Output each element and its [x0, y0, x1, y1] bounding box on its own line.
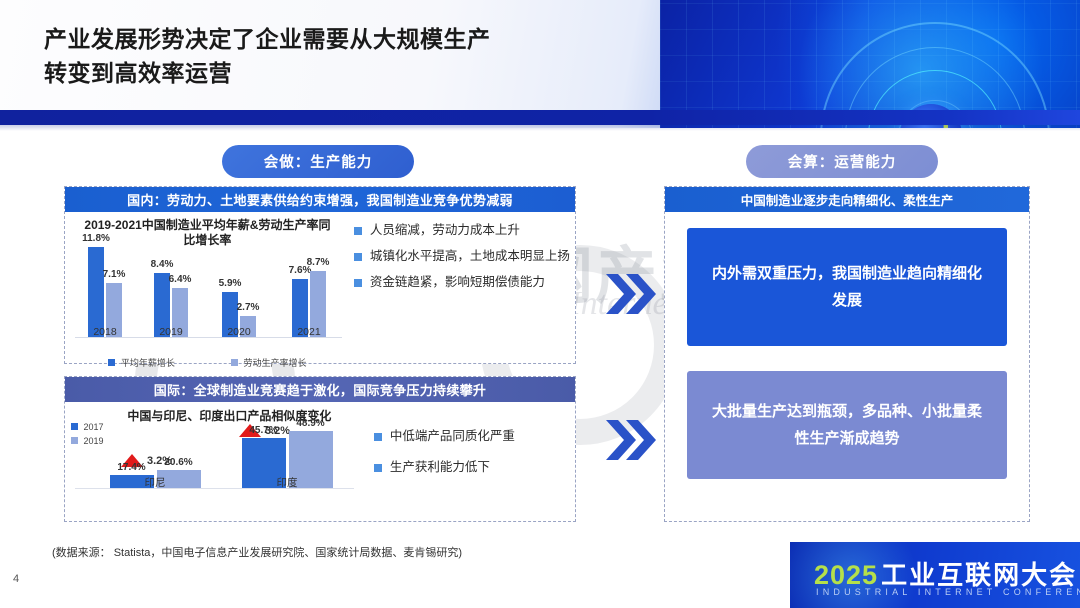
- chart2-xtick-india: 印度: [227, 475, 347, 490]
- bullet-label: 人员缩减，劳动力成本上升: [370, 222, 520, 239]
- bullet-label: 中低端产品同质化严重: [390, 428, 515, 445]
- chart1-label-2019-productivity: 6.4%: [169, 274, 192, 285]
- chart1-label-2018-productivity: 7.1%: [103, 269, 126, 280]
- chart2-xtick-indonesia: 印尼: [95, 475, 215, 490]
- bullet-label: 资金链趋紧，影响短期偿债能力: [370, 274, 545, 291]
- conference-logo: 2025 工业互联网大会 INDUSTRIAL INTERNET CONFERE…: [790, 542, 1080, 608]
- bullet-square-icon: [354, 253, 362, 261]
- panel-trend-header: 中国制造业逐步走向精细化、柔性生产: [665, 187, 1029, 212]
- chart1-xtick-2019: 2019: [143, 326, 199, 338]
- bullet-item: 中低端产品同质化严重: [374, 428, 575, 445]
- logo-name-en: INDUSTRIAL INTERNET CONFERENCE: [816, 587, 1080, 597]
- chart-salary-productivity: 2019-2021中国制造业平均年薪&劳动生产率同比增长率 11.8% 7.1%…: [65, 212, 350, 363]
- slide-header: T 产业发展形势决定了企业需要从大规模生产 转变到高效率运营: [0, 0, 1080, 128]
- bullet-square-icon: [354, 279, 362, 287]
- chart1-label-2021-productivity: 8.7%: [307, 257, 330, 268]
- chart1-label-2020-productivity: 2.7%: [237, 302, 260, 313]
- pill-left-label: 会做：生产能力: [264, 151, 373, 172]
- chart1-group-2018: 11.8% 7.1% 2018: [77, 247, 133, 337]
- bullet-label: 生产获利能力低下: [390, 459, 490, 476]
- panel-domestic: 国内：劳动力、土地要素供给约束增强，我国制造业竞争优势减弱 2019-2021中…: [64, 186, 576, 364]
- panel-international: 国际：全球制造业竞赛趋于激化，国际竞争压力持续攀升 中国与印尼、印度出口产品相似…: [64, 376, 576, 522]
- panel-international-bullets: 中低端产品同质化严重 生产获利能力低下: [364, 402, 575, 521]
- bullet-item: 资金链趋紧，影响短期偿债能力: [354, 274, 575, 291]
- bullet-item: 人员缩减，劳动力成本上升: [354, 222, 575, 239]
- panel-international-body: 中国与印尼、印度出口产品相似度变化 2017 2019 3.2%: [65, 402, 575, 521]
- panel-domestic-header: 国内：劳动力、土地要素供给约束增强，我国制造业竞争优势减弱: [65, 187, 575, 212]
- chart2-group-indonesia: 17.4% 20.6% 印尼: [95, 426, 215, 488]
- chart1-bar-2018-salary: 11.8%: [88, 247, 104, 337]
- chart1-label-2018-salary: 11.8%: [82, 233, 110, 244]
- chart2-plot: 3.2% 3.2% 17.4% 20.6% 印尼: [71, 426, 358, 504]
- bullet-square-icon: [374, 433, 382, 441]
- pill-production-capability[interactable]: 会做：生产能力: [222, 145, 414, 178]
- chart1-label-2019-salary: 8.4%: [151, 259, 174, 270]
- chevron-right-double-icon-bottom: [604, 418, 656, 462]
- page-number: 4: [13, 573, 19, 585]
- bullet-square-icon: [354, 227, 362, 235]
- chart1-legend-swatch-salary: [108, 359, 115, 366]
- trend-box-refinement: 内外需双重压力，我国制造业趋向精细化发展: [687, 228, 1007, 346]
- chart1-group-2019: 8.4% 6.4% 2019: [143, 247, 199, 337]
- page-title-line1: 产业发展形势决定了企业需要从大规模生产: [44, 22, 664, 56]
- pill-right-label: 会算：运营能力: [788, 151, 897, 172]
- chart1-legend-label-salary: 平均年薪增长: [121, 358, 175, 368]
- source-note: (数据来源： Statista，中国电子信息产业发展研究院、国家统计局数据、麦肯…: [52, 544, 462, 560]
- trend-box-flexible: 大批量生产达到瓶颈，多品种、小批量柔性生产渐成趋势: [687, 371, 1007, 479]
- bullet-item: 城镇化水平提高，土地成本明显上扬: [354, 248, 575, 265]
- panel-domestic-body: 2019-2021中国制造业平均年薪&劳动生产率同比增长率 11.8% 7.1%…: [65, 212, 575, 363]
- chart2-label-indonesia-2019: 20.6%: [164, 457, 192, 468]
- chevron-right-double-icon-top: [604, 272, 656, 316]
- chart1-xtick-2020: 2020: [211, 326, 267, 338]
- chart1-group-2021: 7.6% 8.7% 2021: [281, 247, 337, 337]
- bullet-label: 城镇化水平提高，土地成本明显上扬: [370, 248, 570, 265]
- header-bar-shadow: [0, 125, 1080, 131]
- chart2-label-india-2017: 45.7%: [249, 425, 277, 436]
- page-title-line2: 转变到高效率运营: [44, 56, 664, 90]
- chart1-legend: 平均年薪增长 劳动生产率增长: [65, 356, 350, 369]
- page-title: 产业发展形势决定了企业需要从大规模生产 转变到高效率运营: [44, 22, 664, 90]
- chart1-group-2020: 5.9% 2.7% 2020: [211, 247, 267, 337]
- panel-international-header: 国际：全球制造业竞赛趋于激化，国际竞争压力持续攀升: [65, 377, 575, 402]
- chart2-label-indonesia-2017: 17.4%: [117, 462, 145, 473]
- header-accent-bar: [0, 110, 1080, 125]
- bullet-item: 生产获利能力低下: [374, 459, 575, 476]
- chart1-legend-swatch-productivity: [231, 359, 238, 366]
- bullet-square-icon: [374, 464, 382, 472]
- pill-operation-capability[interactable]: 会算：运营能力: [746, 145, 938, 178]
- chart1-xtick-2021: 2021: [281, 326, 337, 338]
- chart1-label-2020-salary: 5.9%: [219, 278, 242, 289]
- chart2-group-india: 45.7% 48.9% 印度: [227, 426, 347, 488]
- chart1-legend-label-productivity: 劳动生产率增长: [243, 358, 306, 368]
- chart-export-similarity: 中国与印尼、印度出口产品相似度变化 2017 2019 3.2%: [65, 402, 364, 521]
- chart2-label-india-2019: 48.9%: [296, 418, 324, 429]
- chart1-xtick-2018: 2018: [77, 326, 133, 338]
- panel-domestic-bullets: 人员缩减，劳动力成本上升 城镇化水平提高，土地成本明显上扬 资金链趋紧，影响短期…: [350, 212, 575, 363]
- chart1-plot: 11.8% 7.1% 2018 8.4% 6.4% 2019: [75, 250, 342, 354]
- panel-trend: 中国制造业逐步走向精细化、柔性生产 内外需双重压力，我国制造业趋向精细化发展 大…: [664, 186, 1030, 522]
- chart1-legend-item-salary: 平均年薪增长: [108, 356, 175, 369]
- chart1-legend-item-productivity: 劳动生产率增长: [231, 356, 307, 369]
